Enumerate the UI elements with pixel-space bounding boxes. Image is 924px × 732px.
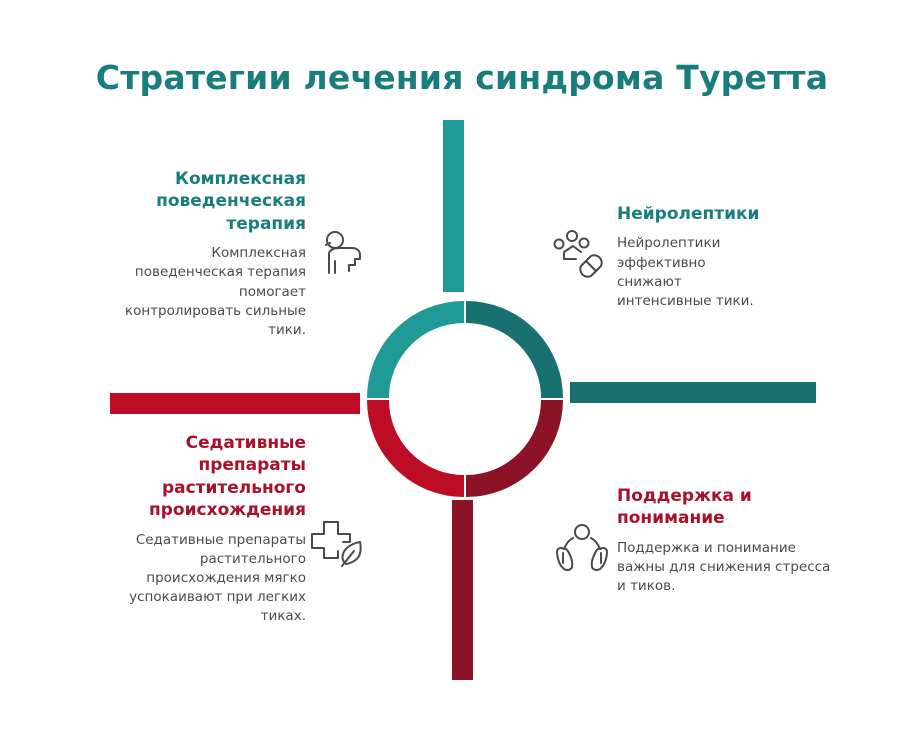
head-profile-icon xyxy=(318,228,370,280)
quadrant-body-neuroleptics: Нейролептики эффективно снижают интенсив… xyxy=(617,234,767,311)
infographic-canvas: Стратегии лечения синдрома Туретта xyxy=(0,0,924,732)
ring-segment-top-right xyxy=(466,312,552,398)
quadrant-body-cbt: Комплексная поведенческая терапия помога… xyxy=(120,244,306,340)
connector-bottom-vertical xyxy=(452,500,473,680)
quadrant-body-herbal-sedatives: Седативные препараты растительного проис… xyxy=(120,531,306,627)
quadrant-body-support: Поддержка и понимание важны для снижения… xyxy=(617,539,832,596)
support-hands-icon xyxy=(553,523,611,573)
quadrant-heading-cbt: Комплексная поведенческая терапия xyxy=(120,168,306,235)
quadrant-heading-neuroleptics: Нейролептики xyxy=(617,203,827,225)
connector-top-vertical xyxy=(443,120,464,292)
quadrant-block-support: Поддержка и понимание Поддержка и понима… xyxy=(617,485,832,596)
connector-right-horizontal xyxy=(570,382,816,403)
quadrant-heading-support: Поддержка и понимание xyxy=(617,485,832,530)
quadrant-heading-herbal-sedatives: Седативные препараты растительного проис… xyxy=(120,432,306,522)
ring-segment-top-left xyxy=(378,312,464,398)
quadrant-block-neuroleptics: Нейролептики Нейролептики эффективно сни… xyxy=(617,203,827,311)
connector-left-horizontal xyxy=(110,393,360,414)
cross-leaf-icon xyxy=(308,518,378,570)
pills-icon xyxy=(553,228,609,280)
quadrant-block-cbt: Комплексная поведенческая терапия Компле… xyxy=(120,168,306,340)
ring-segment-bottom-right xyxy=(466,400,552,486)
quadrant-block-herbal-sedatives: Седативные препараты растительного проис… xyxy=(120,432,306,627)
ring-segment-bottom-left xyxy=(378,400,464,486)
